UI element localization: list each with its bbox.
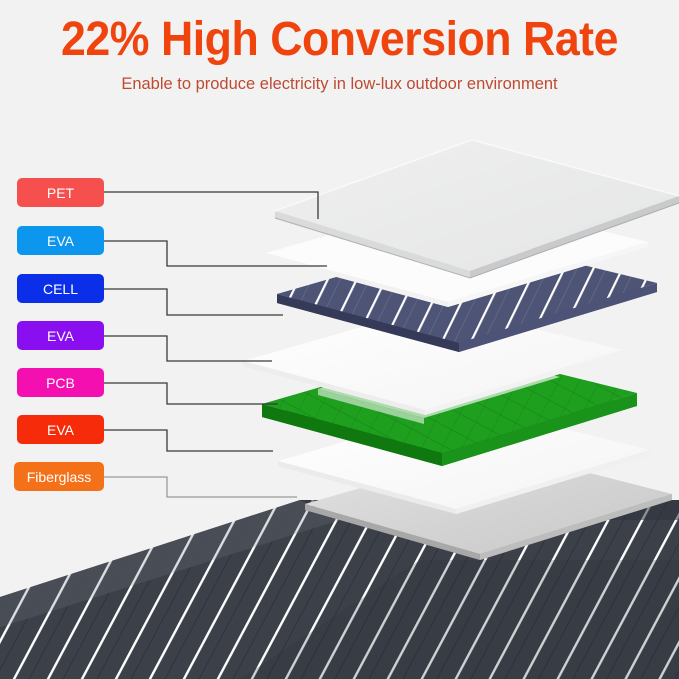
legend-label-pet: PET [47, 185, 74, 201]
legend-chip-eva-mid[interactable]: EVA [17, 321, 104, 350]
legend-label-eva-mid: EVA [47, 328, 74, 344]
legend-chip-pet[interactable]: PET [17, 178, 104, 207]
legend-label-pcb: PCB [46, 375, 75, 391]
layer-legend: PET EVA CELL EVA PCB EVA Fiberglass [0, 0, 679, 679]
legend-chip-eva-bottom[interactable]: EVA [17, 415, 104, 444]
infographic-canvas: 22% High Conversion Rate Enable to produ… [0, 0, 679, 679]
legend-label-cell: CELL [43, 281, 78, 297]
legend-chip-fiberglass[interactable]: Fiberglass [14, 462, 104, 491]
legend-label-fiberglass: Fiberglass [27, 469, 92, 485]
legend-label-eva-bottom: EVA [47, 422, 74, 438]
legend-chip-eva-top[interactable]: EVA [17, 226, 104, 255]
legend-chip-pcb[interactable]: PCB [17, 368, 104, 397]
legend-chip-cell[interactable]: CELL [17, 274, 104, 303]
legend-label-eva-top: EVA [47, 233, 74, 249]
